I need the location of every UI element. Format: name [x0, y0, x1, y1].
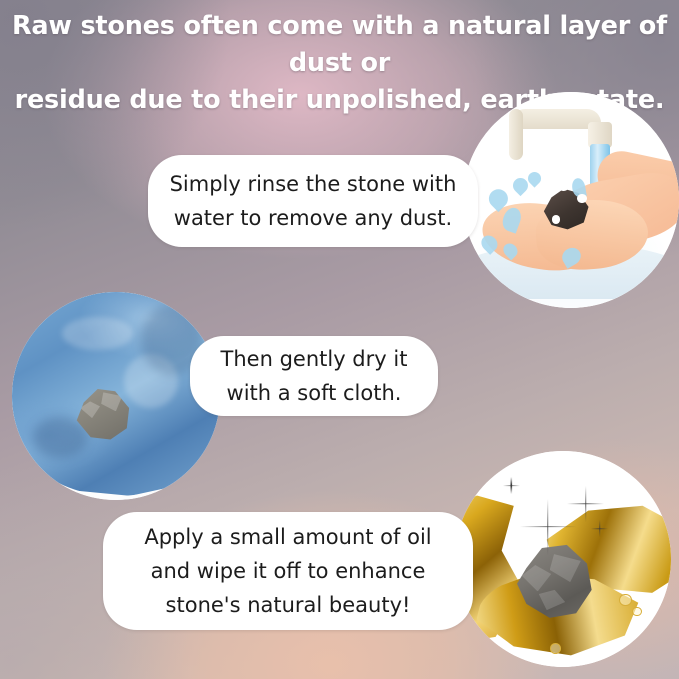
image-hands-rinsing-stone [463, 92, 679, 308]
image-stone-on-cloth [12, 292, 220, 500]
faucet-scene [463, 92, 679, 308]
image-stone-with-oil [455, 451, 671, 667]
callout-step-rinse: Simply rinse the stone with water to rem… [148, 155, 478, 247]
oil-bubble [619, 594, 632, 607]
stone-facet [550, 554, 581, 582]
callout-text-dry: Then gently dry it with a soft cloth. [206, 342, 422, 410]
infographic-canvas: Raw stones often come with a natural lay… [0, 0, 679, 679]
oil-bubble [632, 607, 642, 617]
headline-line-1: Raw stones often come with a natural lay… [10, 8, 669, 82]
callout-step-oil: Apply a small amount of oil and wipe it … [103, 512, 473, 630]
sparkle-icon [503, 477, 520, 494]
cloth-highlight [62, 317, 133, 350]
callout-step-dry: Then gently dry it with a soft cloth. [190, 336, 438, 416]
sparkle-icon [591, 520, 608, 537]
water-bubble [552, 215, 561, 224]
sparkle-icon [567, 486, 604, 523]
water-bubble [558, 181, 569, 192]
stone-facet [80, 401, 100, 418]
callout-text-rinse: Simply rinse the stone with water to rem… [168, 167, 458, 235]
oil-scene [455, 451, 671, 667]
cloth-shadow [33, 417, 87, 459]
stone-facet [522, 565, 552, 591]
oil-bubble [550, 643, 561, 654]
callout-text-oil: Apply a small amount of oil and wipe it … [125, 520, 451, 622]
cloth-scene [12, 292, 220, 500]
stone-facet [539, 590, 565, 610]
